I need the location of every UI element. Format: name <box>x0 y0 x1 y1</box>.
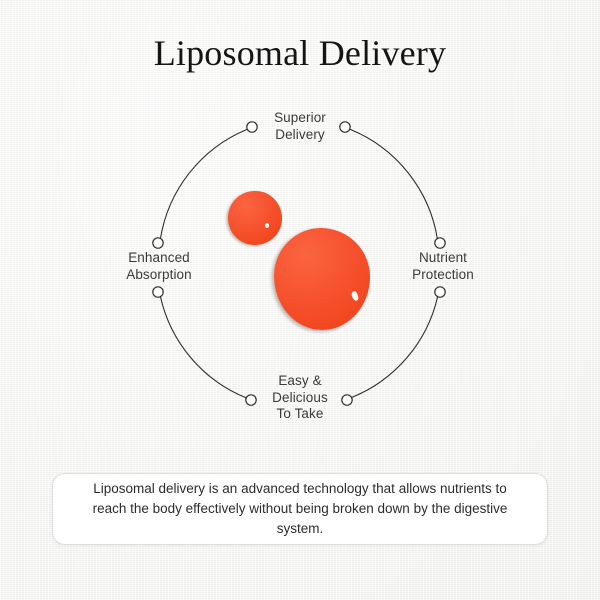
arc-bottom-left <box>160 296 246 398</box>
caption-box: Liposomal delivery is an advanced techno… <box>52 473 548 545</box>
node-label-easy-delicious-to-take: Easy & Delicious To Take <box>240 373 360 423</box>
node-label-enhanced-absorption: Enhanced Absorption <box>98 250 220 283</box>
node-marker-absorption-bottom <box>153 287 163 297</box>
liposome-droplet-large <box>274 228 370 330</box>
node-label-superior-delivery: Superior Delivery <box>240 110 360 143</box>
infographic-page: Liposomal Delivery Superior Delivery Nut… <box>0 0 600 600</box>
arc-bottom-right <box>352 296 438 398</box>
node-marker-absorption-top <box>153 238 163 248</box>
node-marker-nutrient-top <box>435 238 445 248</box>
node-label-nutrient-protection: Nutrient Protection <box>382 250 504 283</box>
arc-top-right <box>351 130 438 240</box>
caption-text: Liposomal delivery is an advanced techno… <box>75 479 525 539</box>
liposome-droplet-small <box>228 191 282 245</box>
node-marker-nutrient-bottom <box>435 287 445 297</box>
droplet-highlight-small-icon <box>265 223 269 228</box>
